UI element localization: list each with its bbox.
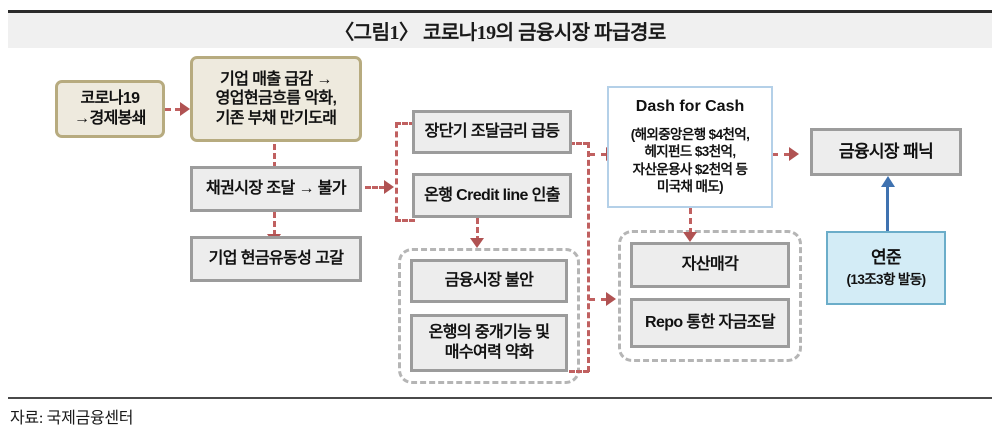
node-corporate-sales[interactable]: 기업 매출 급감 → 영업현금흐름 악화, 기존 부채 만기도래 — [190, 56, 362, 142]
node-cash-drain[interactable]: 기업 현금유동성 고갈 — [190, 236, 362, 282]
node-fed[interactable]: 연준 (13조3항 발동) — [826, 231, 946, 305]
figure-title: 〈그림1〉 코로나19의 금융시장 파급경로 — [8, 13, 992, 48]
node-bond-market[interactable]: 채권시장 조달 → 불가 — [190, 166, 362, 212]
connector-bond-to-bracket — [365, 186, 385, 189]
connector-dashforcash-to-panic — [772, 153, 790, 156]
dash-for-cash-title: Dash for Cash — [636, 97, 744, 117]
bracket-left-vertical — [395, 122, 398, 222]
diagram-canvas: 코로나19 →경제봉쇄 기업 매출 급감 → 영업현금흐름 악화, 기존 부채 … — [0, 48, 1000, 397]
node-covid[interactable]: 코로나19 →경제봉쇄 — [55, 80, 165, 138]
node-market-panic[interactable]: 금융시장 패닉 — [810, 128, 962, 176]
connector-sales-to-bond — [273, 144, 276, 168]
node-dash-for-cash[interactable]: Dash for Cash (해외중앙은행 $4천억, 헤지펀드 $3천억, 자… — [607, 86, 773, 208]
connector-bond-to-cashdrain — [273, 212, 276, 236]
arrowhead-dashforcash-to-assetsale — [683, 232, 697, 242]
node-asset-sale[interactable]: 자산매각 — [630, 242, 790, 288]
node-market-anxiety[interactable]: 금융시장 불안 — [410, 259, 568, 303]
connector-trunk-vertical — [587, 142, 590, 372]
fed-title: 연준 — [871, 248, 901, 269]
arrowhead-trunk-to-assetgroup — [606, 292, 616, 306]
dash-for-cash-detail: (해외중앙은행 $4천억, 헤지펀드 $3천억, 자산운용사 $2천억 등 미국… — [631, 126, 750, 196]
arrowhead-creditline-to-anxiety — [470, 238, 484, 248]
bracket-bottom-arm — [395, 219, 415, 222]
arrowhead-covid-to-sales — [180, 102, 190, 116]
arrowhead-bond-to-bracket — [384, 180, 394, 194]
fed-detail: (13조3항 발동) — [847, 272, 926, 288]
arrowhead-fed-to-panic — [881, 176, 895, 187]
connector-covid-to-sales — [165, 108, 181, 111]
node-funding-rate[interactable]: 장단기 조달금리 급등 — [412, 110, 572, 154]
connector-trunk-bottom-arm — [569, 370, 589, 373]
connector-fed-to-panic — [886, 183, 889, 231]
connector-trunk-to-dashforcash — [589, 153, 607, 156]
connector-dashforcash-to-assetsale — [689, 208, 692, 234]
node-repo-funding[interactable]: Repo 통한 자금조달 — [630, 298, 790, 348]
figure-page: 〈그림1〉 코로나19의 금융시장 파급경로 — [0, 0, 1000, 442]
source-note: 자료: 국제금융센터 — [10, 404, 133, 428]
node-bank-intermediation[interactable]: 온행의 중개기능 및 매수여력 약화 — [410, 314, 568, 372]
arrowhead-dashforcash-to-panic — [789, 147, 799, 161]
footer-rule — [8, 397, 992, 399]
connector-trunk-to-assetgroup — [589, 298, 607, 301]
node-credit-line[interactable]: 온행 Credit line 인출 — [412, 173, 572, 218]
connector-trunk-top-arm — [569, 142, 589, 145]
